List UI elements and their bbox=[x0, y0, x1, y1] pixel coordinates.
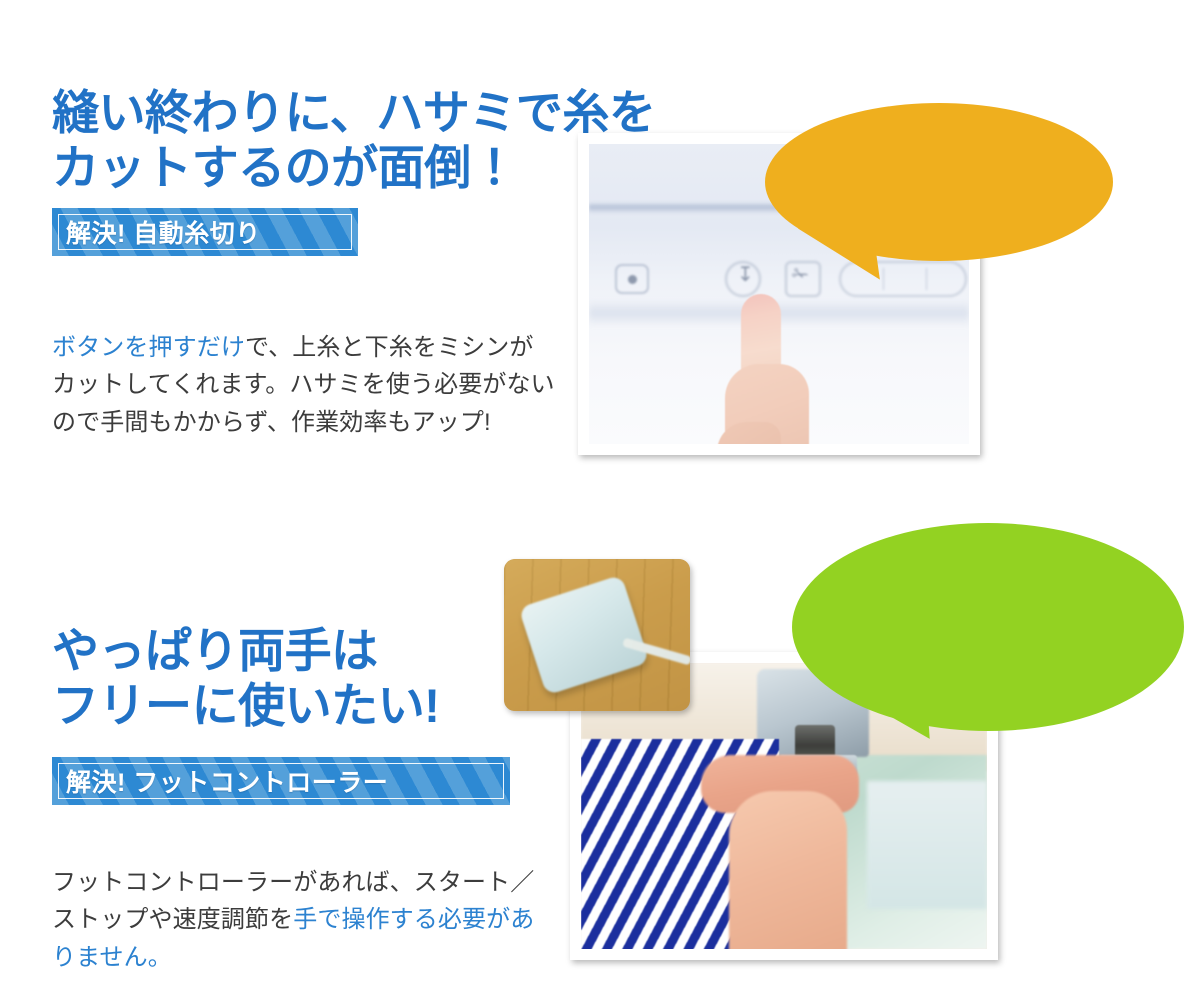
marketing-page: 縫い終わりに、ハサミで糸を カットするのが面倒！ 解決! 自動糸切り ボタンを押… bbox=[0, 0, 1200, 1006]
slider-tick bbox=[926, 268, 927, 290]
solution-banner-label: 解決! フットコントローラー bbox=[66, 763, 388, 799]
speech-bubble-green bbox=[792, 523, 1184, 731]
solution-banner-foot-controller: 解決! フットコントローラー bbox=[52, 757, 510, 805]
solution-banner-label: 解決! 自動糸切り bbox=[66, 214, 261, 250]
fabric-secondary bbox=[867, 781, 987, 909]
wooden-floor bbox=[504, 559, 690, 711]
section-body-auto-thread-cutter: ボタンを押すだけで、上糸と下糸をミシンがカットしてくれます。ハサミを使う必要がな… bbox=[52, 329, 557, 441]
section-headline-foot-controller: やっぱり両手は フリーに使いたい! bbox=[52, 624, 439, 733]
needle-up-down-glyph: ↧ bbox=[737, 262, 754, 286]
power-button-dot bbox=[628, 275, 637, 284]
needle-assembly bbox=[795, 725, 835, 759]
pointing-finger bbox=[717, 294, 835, 444]
section-body-foot-controller: フットコントローラーがあれば、スタート／ストップや速度調節を手で操作する必要があ… bbox=[52, 864, 557, 976]
hand-lower bbox=[729, 791, 847, 949]
photo-foot-controller-pedal bbox=[504, 559, 690, 711]
power-button-icon bbox=[615, 264, 649, 294]
body-highlight-lead: ボタンを押すだけ bbox=[52, 334, 245, 361]
slider-tick bbox=[883, 268, 884, 290]
speech-bubble-orange bbox=[765, 103, 1113, 261]
solution-banner-auto-thread-cutter: 解決! 自動糸切り bbox=[52, 208, 358, 256]
section-headline-auto-thread-cutter: 縫い終わりに、ハサミで糸を カットするのが面倒！ bbox=[52, 86, 655, 195]
foot-controller-body bbox=[518, 575, 649, 696]
